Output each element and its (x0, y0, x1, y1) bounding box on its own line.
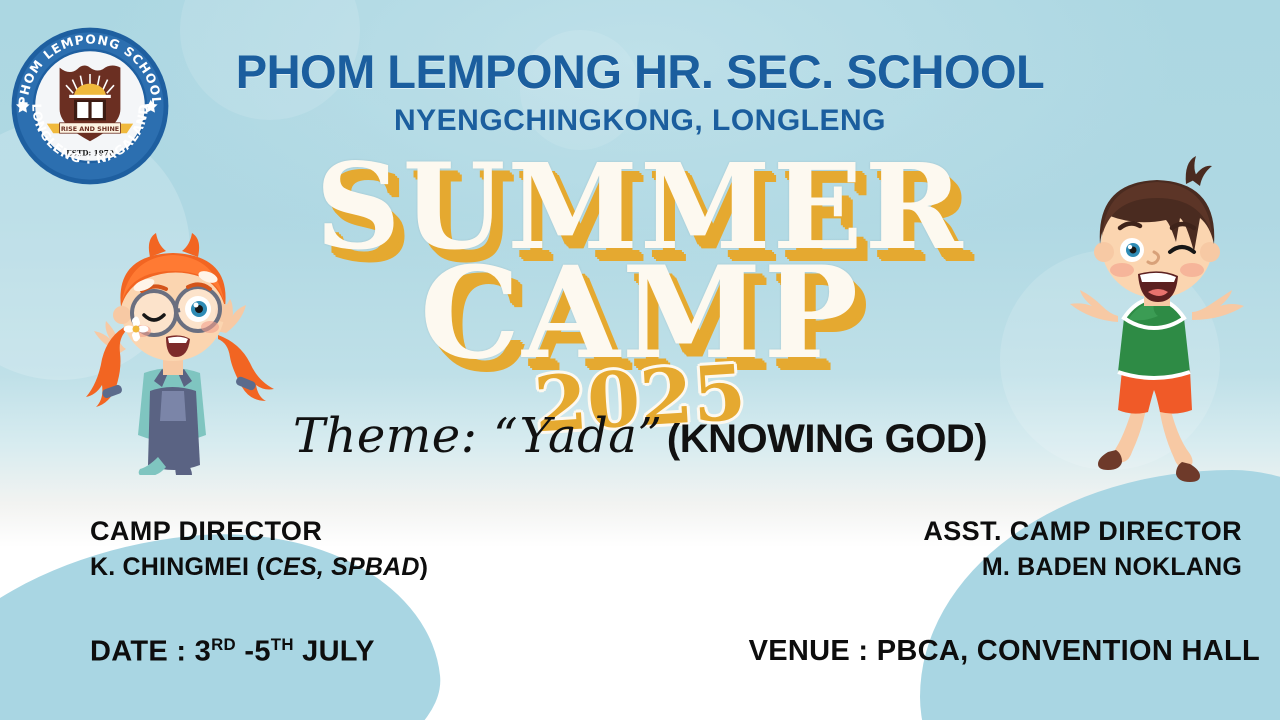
camp-director-group: CAMP DIRECTOR K. CHINGMEI (CES, SPBAD) (90, 515, 428, 586)
asst-director-group: ASST. CAMP DIRECTOR M. BADEN NOKLANG (923, 515, 1242, 586)
theme-script-text: Theme: “Yada” (293, 408, 663, 464)
date-day-2-ordinal: TH (271, 635, 294, 654)
date-info: DATE : 3RD -5TH JULY (90, 635, 375, 669)
camp-director-name-pre: K. CHINGMEI ( (90, 553, 265, 581)
asst-director-name: M. BADEN NOKLANG (923, 549, 1242, 587)
poster-canvas: RISE AND SHINE ESTD: 1970 PHOM LEMPONG S… (0, 0, 1280, 720)
date-month: JULY (294, 636, 375, 668)
theme-line: Theme: “Yada” (KNOWING GOD) (0, 408, 1280, 464)
date-label: DATE : (90, 636, 195, 668)
venue-info: VENUE : PBCA, CONVENTION HALL (749, 635, 1260, 668)
date-day-2: 5 (254, 636, 270, 668)
meta-row: DATE : 3RD -5TH JULY VENUE : PBCA, CONVE… (0, 635, 1280, 695)
date-day-1: 3 (195, 636, 211, 668)
camp-director-credentials: CES, SPBAD (265, 553, 420, 581)
date-day-1-ordinal: RD (211, 635, 236, 654)
camp-director-label: CAMP DIRECTOR (90, 515, 428, 549)
school-location: NYENGCHINGKONG, LONGLENG (0, 104, 1280, 138)
page-title: PHOM LEMPONG HR. SEC. SCHOOL (0, 44, 1280, 99)
date-separator: - (236, 636, 254, 668)
camp-director-name: K. CHINGMEI (CES, SPBAD) (90, 549, 428, 587)
event-details-block: CAMP DIRECTOR K. CHINGMEI (CES, SPBAD) A… (0, 515, 1280, 720)
directors-row: CAMP DIRECTOR K. CHINGMEI (CES, SPBAD) A… (0, 515, 1280, 610)
camp-director-name-post: ) (420, 553, 429, 581)
asst-director-label: ASST. CAMP DIRECTOR (923, 515, 1242, 549)
theme-bold-text: (KNOWING GOD) (667, 417, 987, 461)
